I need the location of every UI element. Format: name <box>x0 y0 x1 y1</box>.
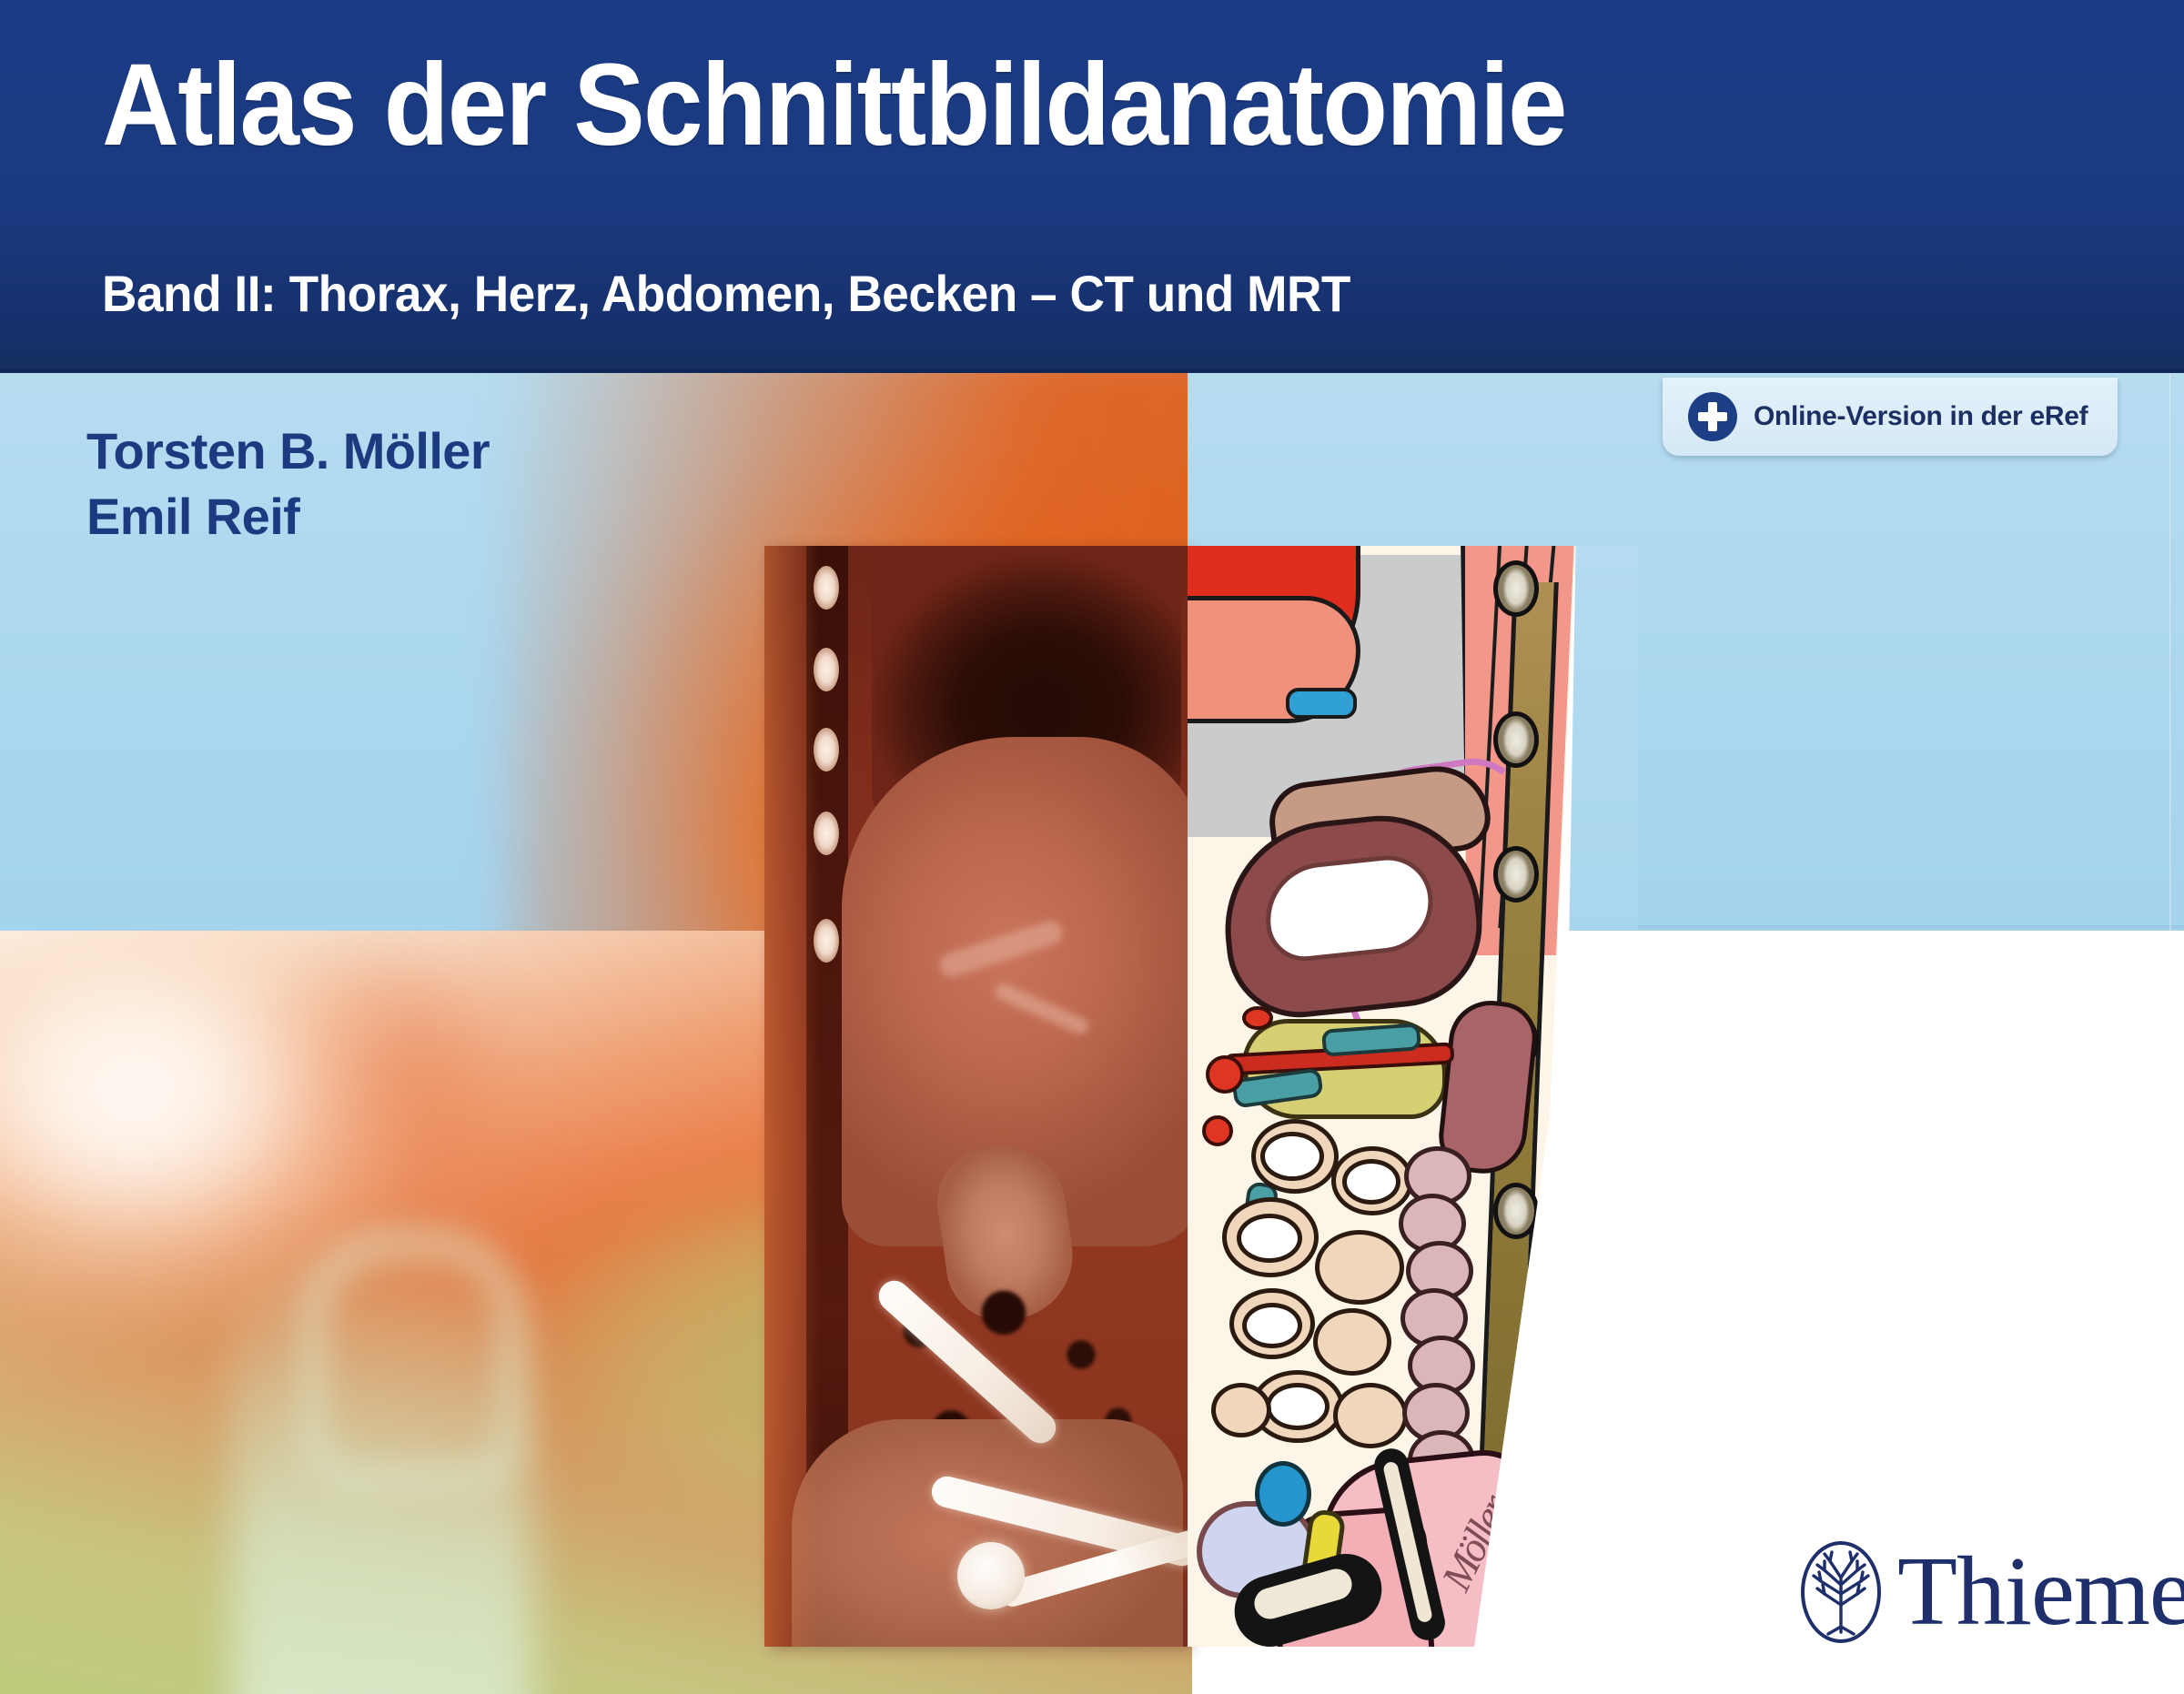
book-spine-fold <box>2169 373 2172 931</box>
thieme-tree-icon <box>1797 1538 1885 1647</box>
author-name: Emil Reif <box>86 484 490 550</box>
book-cover: Möller Atlas der Schnittbildanatomie Ban… <box>0 0 2184 1694</box>
online-version-badge-label: Online-Version in der eRef <box>1754 401 2088 432</box>
page-subtitle: Band II: Thorax, Herz, Abdomen, Becken –… <box>102 268 1350 319</box>
publisher-name: Thieme <box>1897 1543 2184 1641</box>
publisher-logo: Thieme <box>1797 1538 2184 1647</box>
ct-scan-image <box>764 546 1188 1647</box>
online-version-badge[interactable]: Online-Version in der eRef <box>1663 378 2118 456</box>
header-band: Atlas der Schnittbildanatomie Band II: T… <box>0 0 2184 373</box>
author-name: Torsten B. Möller <box>86 418 490 484</box>
author-list: Torsten B. Möller Emil Reif <box>86 418 490 549</box>
anatomical-illustration: Möller <box>1188 546 1597 1647</box>
page-title: Atlas der Schnittbildanatomie <box>102 47 1566 164</box>
plus-circle-icon <box>1688 392 1737 441</box>
